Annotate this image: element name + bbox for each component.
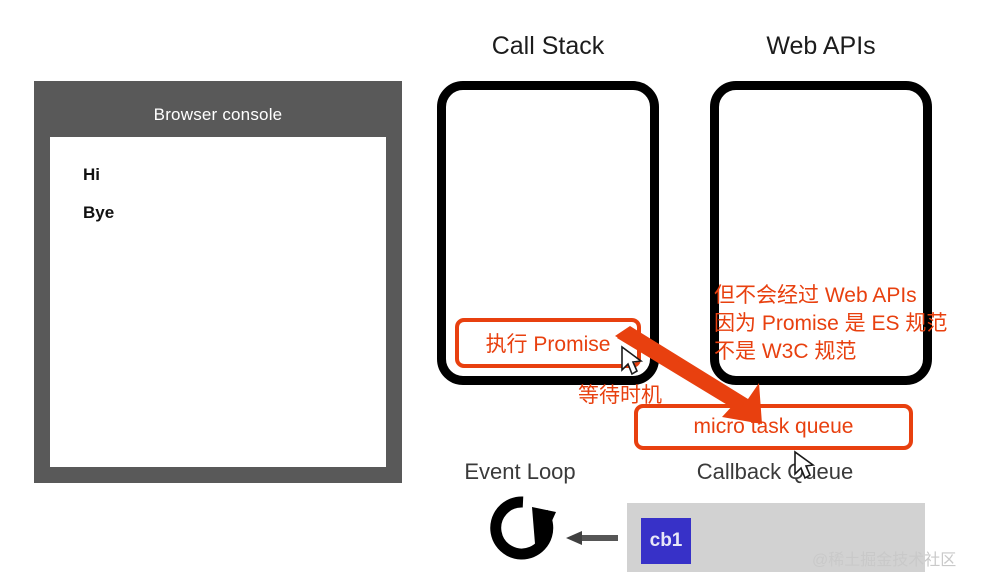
console-log-line: Hi — [83, 165, 100, 185]
watermark-text: @稀土掘金技术社区 — [812, 546, 956, 570]
diagram-canvas: Browser console Hi Bye Call Stack Web AP… — [0, 0, 984, 572]
callback-queue-item[interactable]: cb1 — [641, 518, 691, 564]
web-apis-annotation-line: 但不会经过 Web APIs — [714, 282, 947, 310]
web-apis-heading: Web APIs — [710, 32, 932, 61]
browser-console-panel: Browser console Hi Bye — [34, 81, 402, 483]
wait-timing-annotation: 等待时机 — [578, 379, 662, 409]
browser-console-title: Browser console — [34, 105, 402, 125]
micro-task-queue-box: micro task queue — [634, 404, 913, 450]
exec-promise-frame: 执行 Promise — [455, 318, 641, 368]
callback-to-loop-arrow — [566, 531, 618, 545]
browser-console-output: Hi Bye — [50, 137, 386, 467]
web-apis-annotation-line: 因为 Promise 是 ES 规范 — [714, 310, 947, 338]
call-stack-heading: Call Stack — [437, 32, 659, 61]
web-apis-annotation: 但不会经过 Web APIs 因为 Promise 是 ES 规范 不是 W3C… — [714, 282, 947, 366]
event-loop-icon — [496, 502, 556, 556]
callback-queue-heading: Callback Queue — [660, 459, 890, 485]
event-loop-heading: Event Loop — [440, 459, 600, 485]
console-log-line: Bye — [83, 203, 114, 223]
web-apis-annotation-line: 不是 W3C 规范 — [714, 338, 947, 366]
